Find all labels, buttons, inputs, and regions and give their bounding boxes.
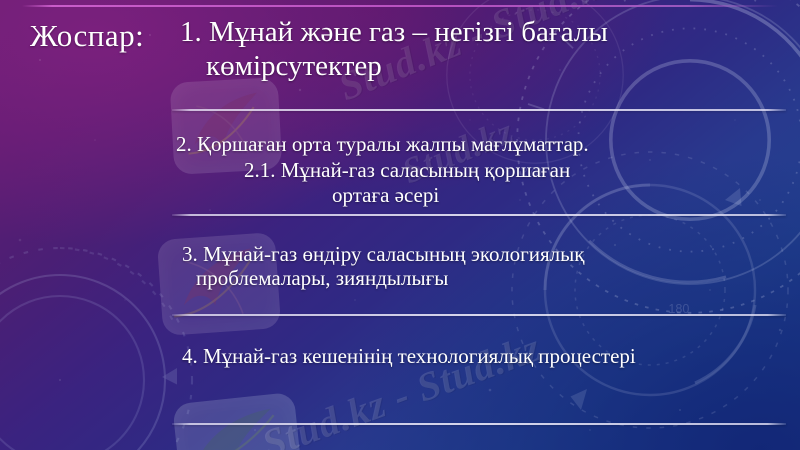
outline-item-2-1-line-2: ортаға әсері — [172, 183, 788, 207]
outline-list: 1. Мұнай және газ – негізгі бағалы көмір… — [172, 14, 788, 434]
page-title: Жоспар: — [30, 18, 144, 54]
outline-item-2-1-line-1: 2.1. Мұнай-газ саласының қоршаған — [172, 158, 788, 182]
outline-item-3-line-1: 3. Мұнай-газ өндіру саласының экологиялы… — [172, 242, 788, 266]
outline-item-2-text: 2. Қоршаған орта туралы жалпы мағлұматта… — [172, 132, 788, 156]
outline-item-3-line-2: проблемалары, зияндылығы — [172, 266, 788, 290]
presentation-slide: 0 90 180 270 — [0, 0, 800, 450]
top-accent-rule — [22, 5, 778, 7]
outline-item-1-line-2: көмірсутектер — [172, 50, 788, 84]
list-item-1: 1. Мұнай және газ – негізгі бағалы көмір… — [172, 16, 788, 83]
list-item-4: 4. Мұнай-газ кешенінің технологиялық про… — [172, 344, 788, 368]
list-item-2: 2. Қоршаған орта туралы жалпы мағлұматта… — [172, 132, 788, 207]
outline-item-4-text: 4. Мұнай-газ кешенінің технологиялық про… — [172, 344, 788, 368]
outline-item-1-line-1: 1. Мұнай және газ – негізгі бағалы — [172, 16, 788, 50]
list-item-3: 3. Мұнай-газ өндіру саласының экологиялы… — [172, 242, 788, 291]
